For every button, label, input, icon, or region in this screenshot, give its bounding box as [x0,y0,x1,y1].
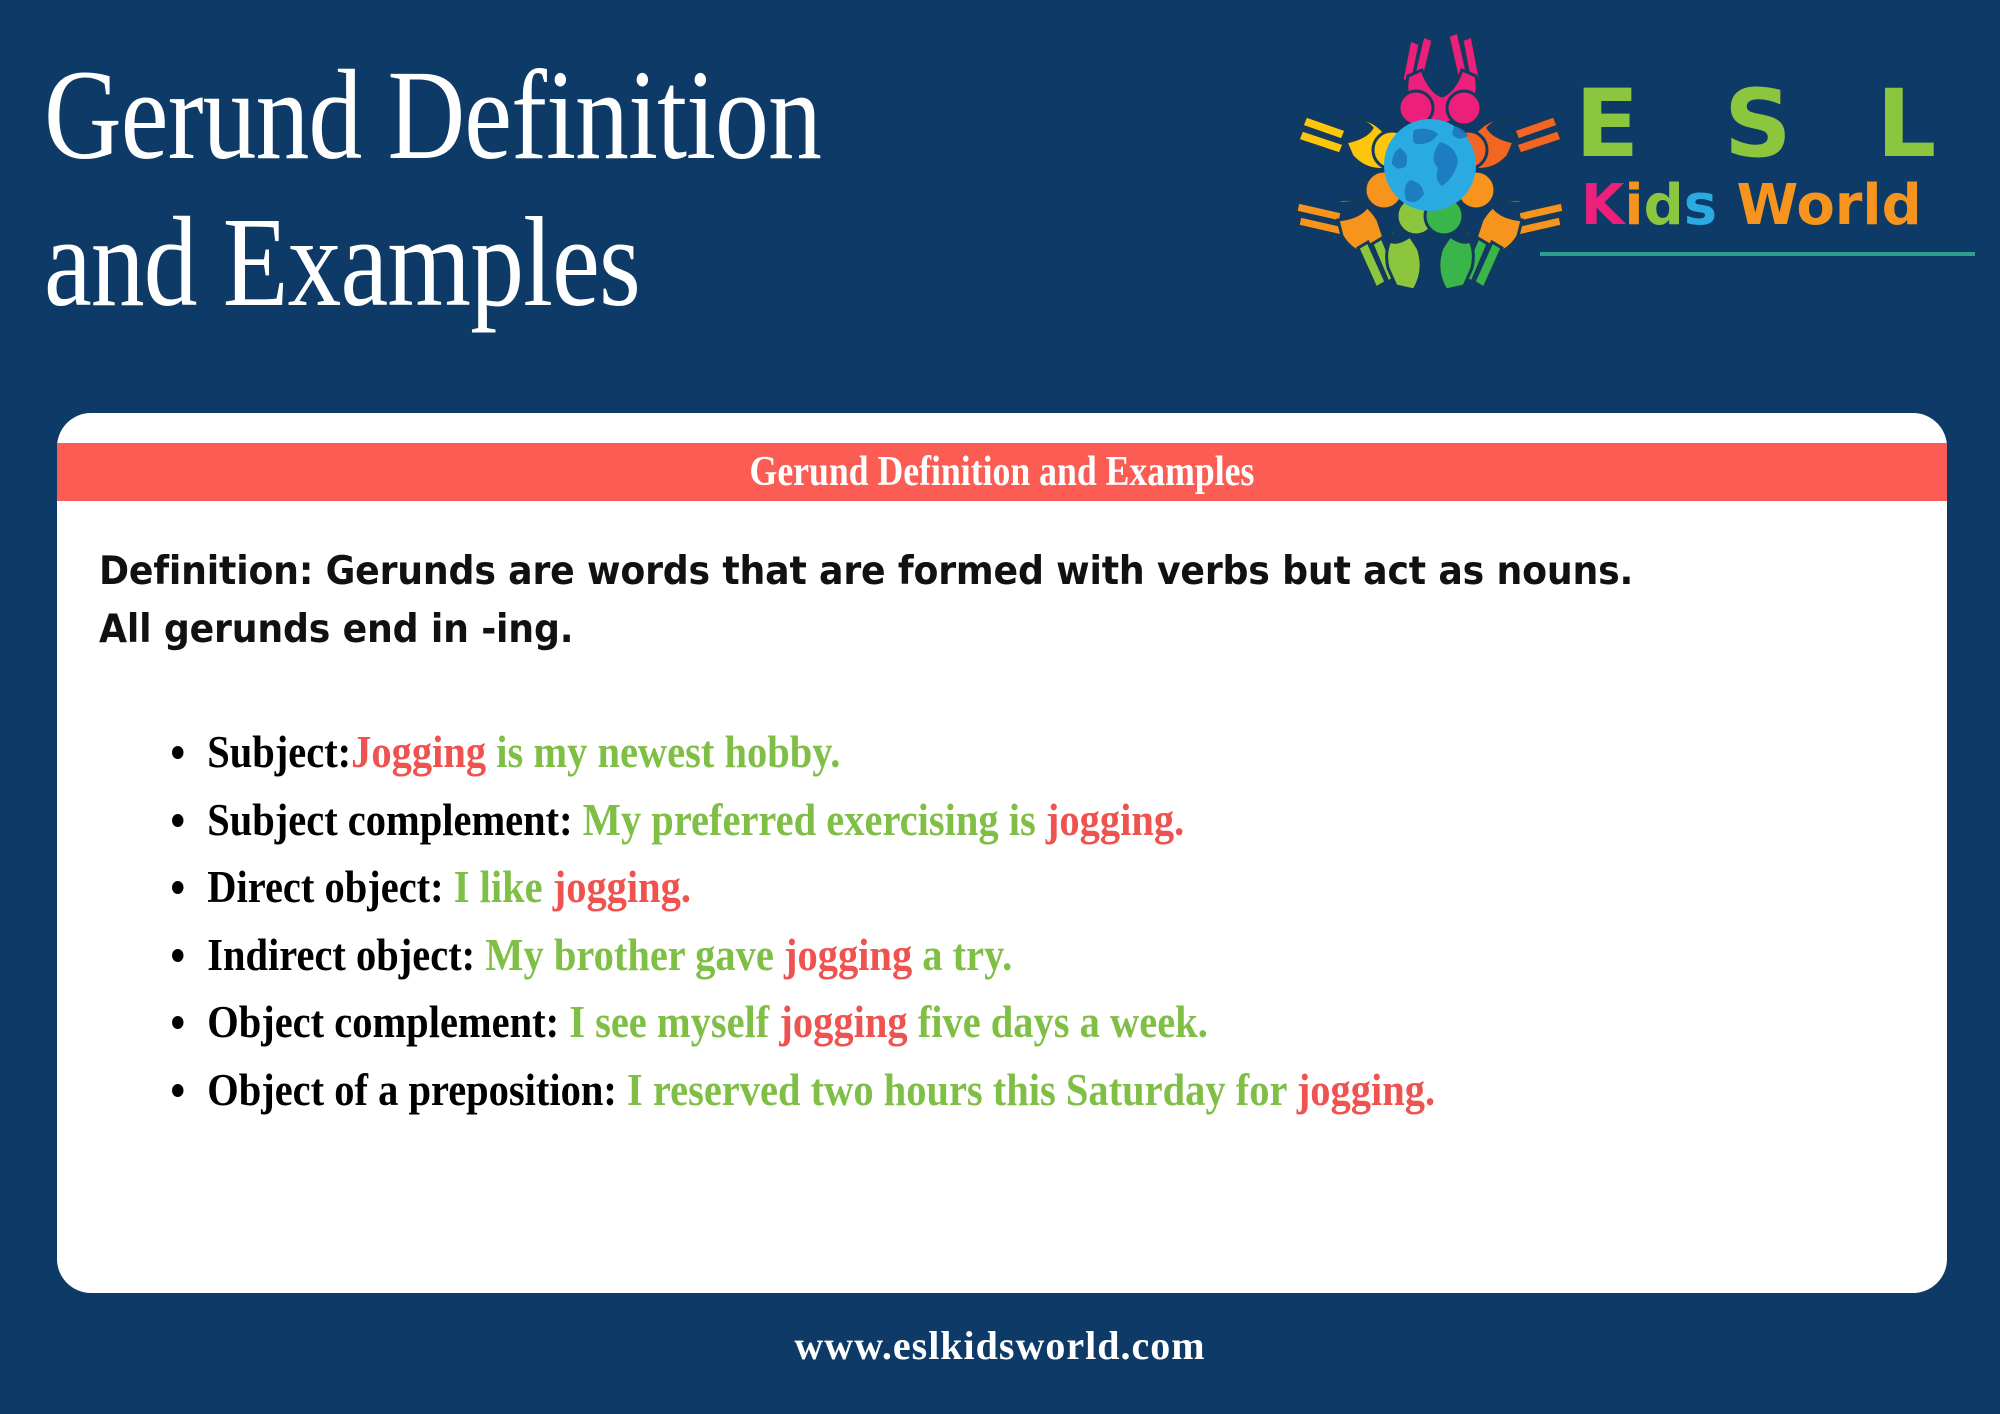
list-item: Direct object: I like jogging. [165,855,1802,918]
brand-letter-i: i [1624,173,1643,238]
example-sentence: five days a week. [908,996,1208,1047]
gerund-highlight: jogging [779,996,907,1047]
example-sentence: I reserved two hours this Saturday for [617,1064,1297,1115]
example-label: Subject: [207,726,351,777]
header: Gerund Definition and Examples [0,0,2000,400]
brand-esl-text: E S L [1575,78,1975,172]
example-sentence: a try. [912,929,1012,980]
card-banner-title: Gerund Definition and Examples [750,448,1255,496]
gerund-highlight: jogging. [1046,794,1184,845]
brand-letter-d: d [1644,173,1684,238]
gerund-highlight: jogging [784,929,912,980]
brand-letter-k: K [1581,173,1624,238]
brand-word-world: World [1717,173,1922,238]
example-label: Object complement: [207,996,559,1047]
brand-kidsworld-text: Kids World [1581,178,1975,234]
list-item: Object complement: I see myself jogging … [165,990,1802,1053]
list-item: Subject:Jogging is my newest hobby. [165,720,1802,783]
brand-letter-s: s [1684,173,1717,238]
gerund-highlight: jogging. [1297,1064,1435,1115]
example-sentence: I like [444,861,553,912]
footer-url: www.eslkidsworld.com [0,1322,2000,1369]
brand-wordmark: E S L Kids World [1575,78,1975,234]
example-sentence: is my newest hobby. [486,726,840,777]
example-sentence: I see myself [559,996,779,1047]
brand-logo: E S L Kids World [1290,30,1980,320]
card-banner: Gerund Definition and Examples [57,443,1947,501]
list-item: Subject complement: My preferred exercis… [165,788,1802,851]
card-body: Definition: Gerunds are words that are f… [57,501,1947,1125]
gerund-highlight: jogging. [553,861,691,912]
definition-paragraph: Definition: Gerunds are words that are f… [99,543,1680,658]
brand-underline [1540,252,1975,256]
example-label: Direct object: [207,861,443,912]
example-sentence: My preferred exercising is [573,794,1046,845]
content-card: Gerund Definition and Examples Definitio… [57,413,1947,1293]
infographic-page: Gerund Definition and Examples [0,0,2000,1414]
gerund-highlight: Jogging [351,726,486,777]
example-label: Indirect object: [207,929,475,980]
example-label: Subject complement: [207,794,572,845]
example-sentence: My brother gave [475,929,784,980]
example-label: Object of a preposition: [207,1064,617,1115]
examples-list: Subject:Jogging is my newest hobby.Subje… [165,720,1889,1121]
page-title: Gerund Definition and Examples [44,42,951,336]
list-item: Object of a preposition: I reserved two … [165,1058,1802,1121]
globe-people-icon [1290,30,1570,290]
list-item: Indirect object: My brother gave jogging… [165,923,1802,986]
